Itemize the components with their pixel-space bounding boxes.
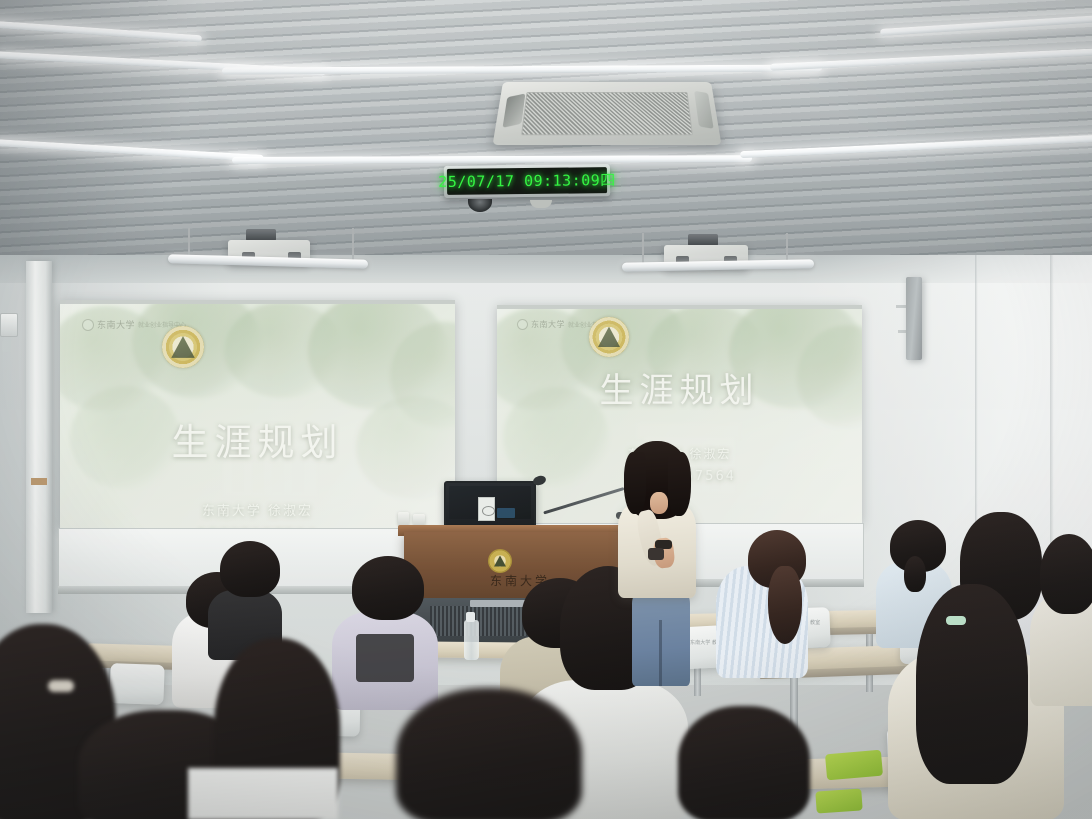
chair-seat [815,788,862,813]
water-bottle [464,620,479,660]
wall-pilaster [26,261,52,613]
clock-display: 25/07/17 09:13:09四 [447,167,607,195]
presenter-jeans-seam [659,620,662,686]
wall-speaker [906,277,922,360]
ponytail [768,566,802,644]
lecture-hall-photo: 25/07/17 09:13:09四 [0,0,1092,819]
slide-background: 东南大学 就业创业指导中心 生涯规划 东南大学 徐淑宏 13605157564 [60,300,455,528]
light-suspension-rod [642,233,644,264]
presenter-handheld-mic [648,548,664,560]
led-wall-clock: 25/07/17 09:13:09四 [444,164,610,198]
ceiling [0,0,1092,262]
classroom-chair [109,663,164,705]
slide-logo-text: 东南大学 [97,318,135,331]
shirt-graphic [356,634,414,682]
light-suspension-rod [352,228,354,260]
hair-tie [946,616,966,625]
projection-screen-left: 东南大学 就业创业指导中心 生涯规划 东南大学 徐淑宏 13605157564 [60,300,455,528]
university-crest-icon [162,326,204,368]
monitor-sticker [497,508,515,518]
chair-seat [825,750,883,781]
hair-tie [48,680,74,692]
university-crest-icon [589,317,629,357]
pilaster-marker [31,478,47,485]
ac-vane [694,91,714,129]
slide-title: 生涯规划 [497,363,862,412]
ac-grille [521,92,693,135]
ceiling-ac-cassette [493,82,722,145]
screen-frame [60,300,455,304]
monitor-paper-card [478,497,495,521]
wall-mounted-device [0,313,18,337]
screen-frame [497,305,862,309]
desk-cup [398,512,409,526]
ponytail [904,556,926,592]
presenter-hair-strand [624,452,646,514]
slide-author: 东南大学 徐淑宏 [60,500,455,519]
university-seal-icon [82,319,94,331]
presenter-hair-strand [668,452,691,516]
clock-text: 25/07/17 09:13:09四 [438,173,616,190]
university-seal-icon [517,319,528,330]
wall-mounted-device [2,340,12,352]
podium-crest-icon [488,549,512,573]
water-bottle-cap [466,612,475,622]
slide-title: 生涯规划 [60,412,455,466]
slide-logo-text: 东南大学 [531,319,565,330]
presenter-hand [650,492,668,514]
